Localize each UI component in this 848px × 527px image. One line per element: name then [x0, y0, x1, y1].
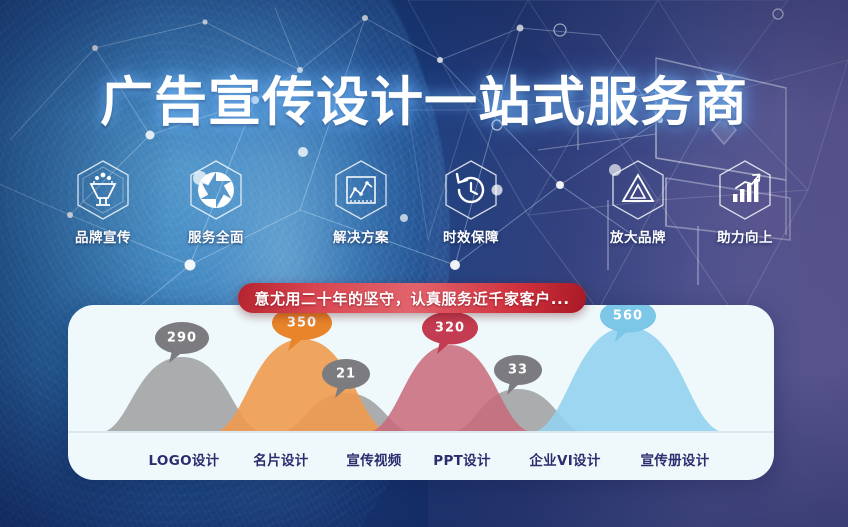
category-label: 企业VI设计 — [529, 449, 600, 469]
bubble-value: 560 — [613, 309, 643, 324]
aperture-icon — [185, 158, 247, 222]
feature-label: 服务全面 — [170, 226, 262, 246]
triangle-brand-icon — [607, 158, 669, 222]
feature-label: 助力向上 — [699, 226, 791, 246]
feature-item-solutions[interactable]: 解决方案 — [315, 158, 407, 246]
hill-card-design — [210, 339, 394, 433]
feature-item-timeliness[interactable]: 时效保障 — [425, 158, 517, 246]
category-label: 宣传册设计 — [641, 449, 710, 469]
chart-analytics-icon — [330, 158, 392, 222]
bubble-value: 21 — [336, 367, 356, 382]
clock-rewind-icon — [440, 158, 502, 222]
category-label: PPT设计 — [433, 449, 491, 469]
feature-item-brand-promotion[interactable]: 品牌宣传 — [57, 158, 149, 246]
category-label: 宣传视频 — [346, 449, 401, 469]
category-label: LOGO设计 — [149, 449, 220, 469]
feature-item-amplify-brand[interactable]: 放大品牌 — [592, 158, 684, 246]
tagline-text: 意尤用二十年的坚守，认真服务近千家客户... — [254, 288, 569, 309]
bubble-value: 350 — [287, 316, 317, 331]
megaphone-icon — [72, 158, 134, 222]
feature-label: 时效保障 — [425, 226, 517, 246]
bubble-value: 290 — [167, 331, 197, 346]
statistics-card: 290 350 21 320 33 560 LOGO设计 名片设计 宣传视频 P… — [68, 305, 774, 480]
feature-item-full-service[interactable]: 服务全面 — [170, 158, 262, 246]
feature-label: 品牌宣传 — [57, 226, 149, 246]
hill-brochure-design — [528, 327, 728, 433]
category-label: 名片设计 — [253, 449, 308, 469]
feature-label: 解决方案 — [315, 226, 407, 246]
page-title: 广告宣传设计一站式服务商 — [0, 60, 848, 136]
tagline-banner: 意尤用二十年的坚守，认真服务近千家客户... — [238, 283, 586, 313]
growth-bars-icon — [714, 158, 776, 222]
bubble-value: 33 — [508, 363, 528, 378]
feature-icon-row: 品牌宣传 服务全面 — [0, 158, 848, 250]
feature-label: 放大品牌 — [592, 226, 684, 246]
bubble-value: 320 — [435, 321, 465, 336]
poster-canvas: 广告宣传设计一站式服务商 品牌宣传 — [0, 0, 848, 527]
feature-item-boost-growth[interactable]: 助力向上 — [699, 158, 791, 246]
